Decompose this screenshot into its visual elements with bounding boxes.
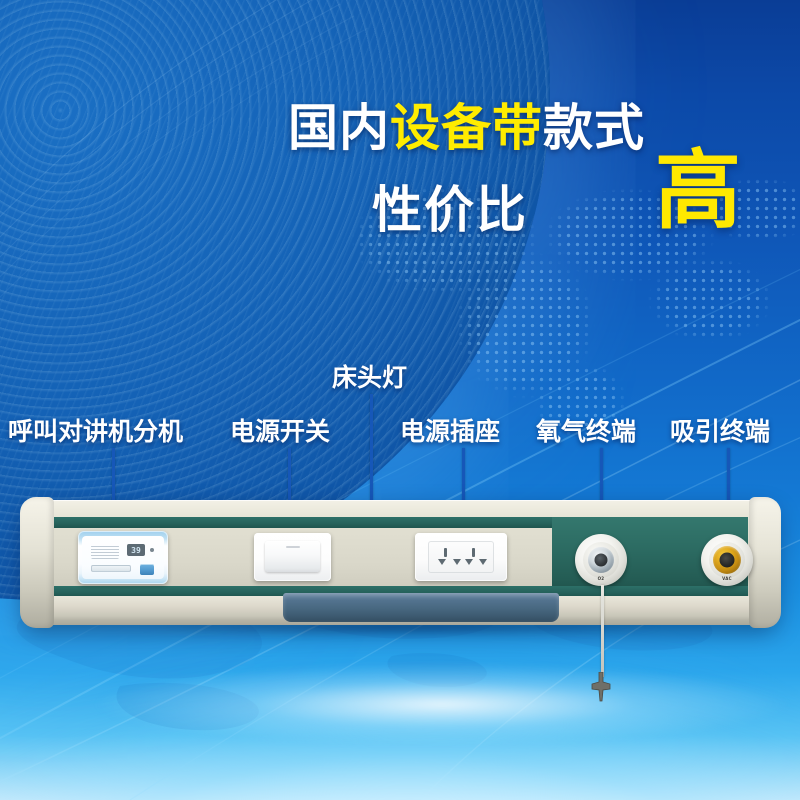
- speaker-grille-icon: [91, 545, 119, 559]
- socket-pin-4: [479, 559, 487, 565]
- callout-label-intercom: 呼叫对讲机分机: [8, 412, 183, 448]
- suction-terminal-port: [720, 553, 735, 568]
- intercom-call-button[interactable]: [140, 564, 154, 575]
- callout-label-suction: 吸引终端: [670, 412, 770, 448]
- pull-cord-string[interactable]: [601, 585, 604, 677]
- socket-pin-left-upper: [444, 548, 447, 557]
- bed-lamp-power-switch[interactable]: [254, 533, 331, 581]
- socket-pin-1: [438, 559, 446, 565]
- bottom-light-streak: [0, 642, 800, 762]
- callout-label-power-socket: 电源插座: [400, 412, 500, 448]
- suction-terminal-tag: VAC: [722, 576, 732, 581]
- socket-pin-2: [453, 559, 461, 565]
- panel-reflective-strip: [283, 593, 559, 622]
- headline-segment-2-highlight: 设备带: [390, 99, 543, 157]
- callout-label-oxygen: 氧气终端: [536, 412, 636, 448]
- headline-segment-1: 国内: [288, 99, 390, 157]
- poster-canvas: 国内设备带款式 性价比 高 呼叫对讲机分机 电源开关 床头灯 电源插座 氧气终端…: [0, 0, 800, 800]
- headline-line-1: 国内设备带款式: [288, 88, 645, 160]
- intercom-label-strip: [91, 565, 131, 572]
- socket-faceplate: [428, 541, 494, 573]
- headline-segment-3: 款式: [543, 99, 645, 157]
- rocker-switch-paddle[interactable]: [265, 541, 320, 572]
- suction-gas-terminal[interactable]: VAC: [701, 534, 753, 586]
- socket-pin-3: [465, 559, 473, 565]
- intercom-faceplate: 39: [82, 536, 164, 579]
- panel-end-cap-right: [749, 497, 781, 628]
- headline-line-2: 性价比: [372, 170, 528, 242]
- oxygen-terminal-tag: O2: [598, 576, 605, 581]
- oxygen-terminal-core: [588, 547, 614, 573]
- nurse-call-intercom-unit[interactable]: 39: [78, 531, 168, 584]
- socket-pin-right-upper: [472, 548, 475, 557]
- status-led-icon: [150, 548, 154, 552]
- oxygen-terminal-port: [595, 554, 608, 567]
- callout-label-bed-lamp: 床头灯: [332, 358, 407, 394]
- oxygen-gas-terminal[interactable]: O2: [575, 534, 627, 586]
- panel-end-cap-left: [20, 497, 54, 628]
- intercom-display: 39: [127, 544, 145, 556]
- pull-cord-handle-icon[interactable]: [586, 672, 616, 702]
- headline-accent-character: 高: [655, 148, 741, 234]
- power-socket-outlet[interactable]: [415, 533, 507, 581]
- callout-label-power-switch: 电源开关: [230, 412, 330, 448]
- suction-terminal-core: [713, 546, 741, 574]
- switch-indicator-mark: [286, 546, 300, 548]
